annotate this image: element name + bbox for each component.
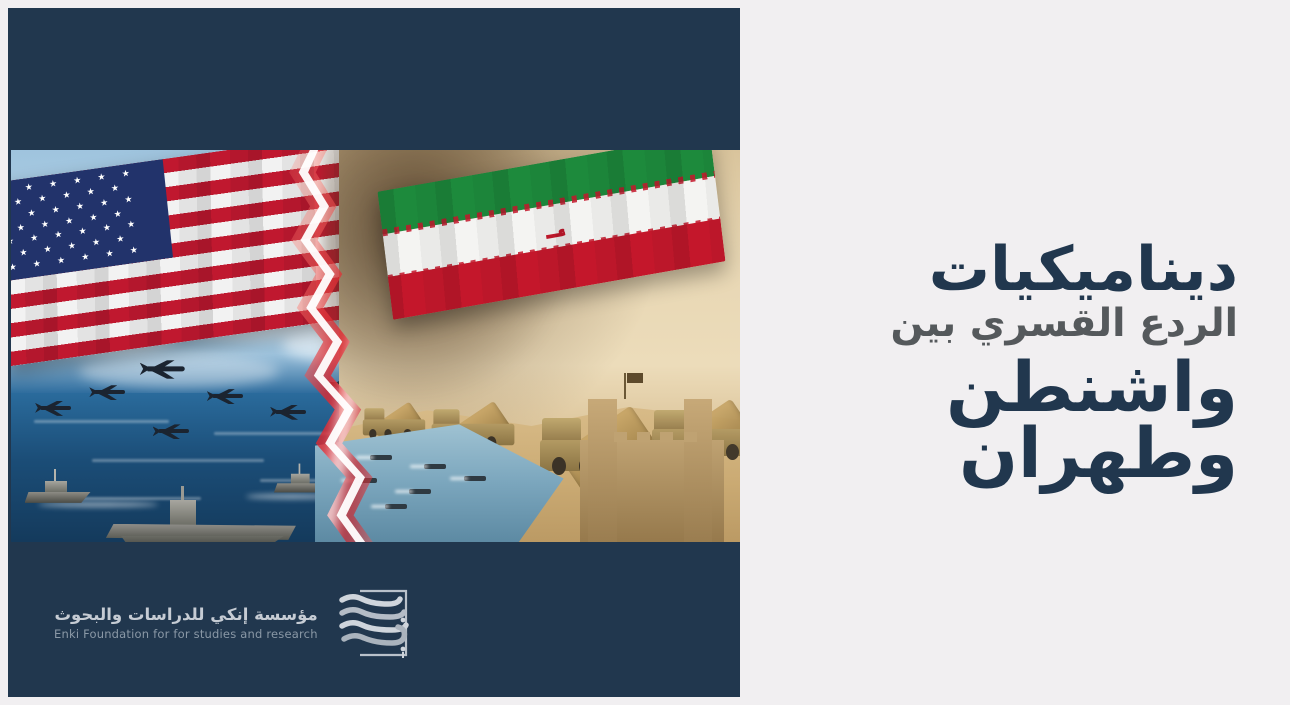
fighter-jet [201,389,247,404]
enki-calligraphy-emblem-icon [332,583,414,663]
fast-attack-boat [385,504,407,509]
missile-launcher [363,399,425,436]
fast-attack-boat [464,476,486,481]
cover-page: { "page": { "width": 1290, "height": 705… [0,0,1290,705]
title-line-1: ديناميكيات [818,240,1238,300]
fighter-jet [29,401,75,416]
fast-attack-boat [370,455,392,460]
flag-white-band [383,176,720,277]
title-line-4: وطهران [818,419,1238,489]
logo-text-group: مؤسسة إنكي للدراسات والبحوث Enki Foundat… [54,605,318,641]
fighter-jet [132,360,190,379]
title-line-2: الردع القسري بين [818,302,1238,347]
fast-attack-boat [409,489,431,494]
logo-arabic-name: مؤسسة إنكي للدراسات والبحوث [54,605,318,624]
desert-fortress [580,440,724,542]
flag-canton: ★★ ★★ ★★ ★★ ★★ ★ ★★ ★★ ★★ ★★ ★★ ★ ★★ ★★ … [11,159,173,282]
logo-english-name: Enki Foundation for for studies and rese… [54,627,318,641]
fast-attack-boat [424,464,446,469]
fighter-jet [147,424,193,439]
fighter-jet [83,385,129,400]
left-navy-panel: ★★ ★★ ★★ ★★ ★★ ★ ★★ ★★ ★★ ★★ ★★ ★ ★★ ★★ … [8,8,740,697]
foundation-logo: مؤسسة إنكي للدراسات والبحوث Enki Foundat… [54,583,414,663]
fast-attack-boat [355,478,377,483]
cover-image-collage: ★★ ★★ ★★ ★★ ★★ ★ ★★ ★★ ★★ ★★ ★★ ★ ★★ ★★ … [11,150,740,542]
iran-emblem-icon: ؀ [536,201,575,250]
destroyer-ship [25,469,91,503]
fighter-jet [264,405,310,420]
cover-title-block: ديناميكيات الردع القسري بين واشنطن وطهرا… [818,240,1238,489]
flag-kufic-script [388,216,721,282]
aircraft-carrier [106,492,296,542]
title-line-3: واشنطن [818,353,1238,423]
iran-military-scene: ؀ [339,150,740,542]
